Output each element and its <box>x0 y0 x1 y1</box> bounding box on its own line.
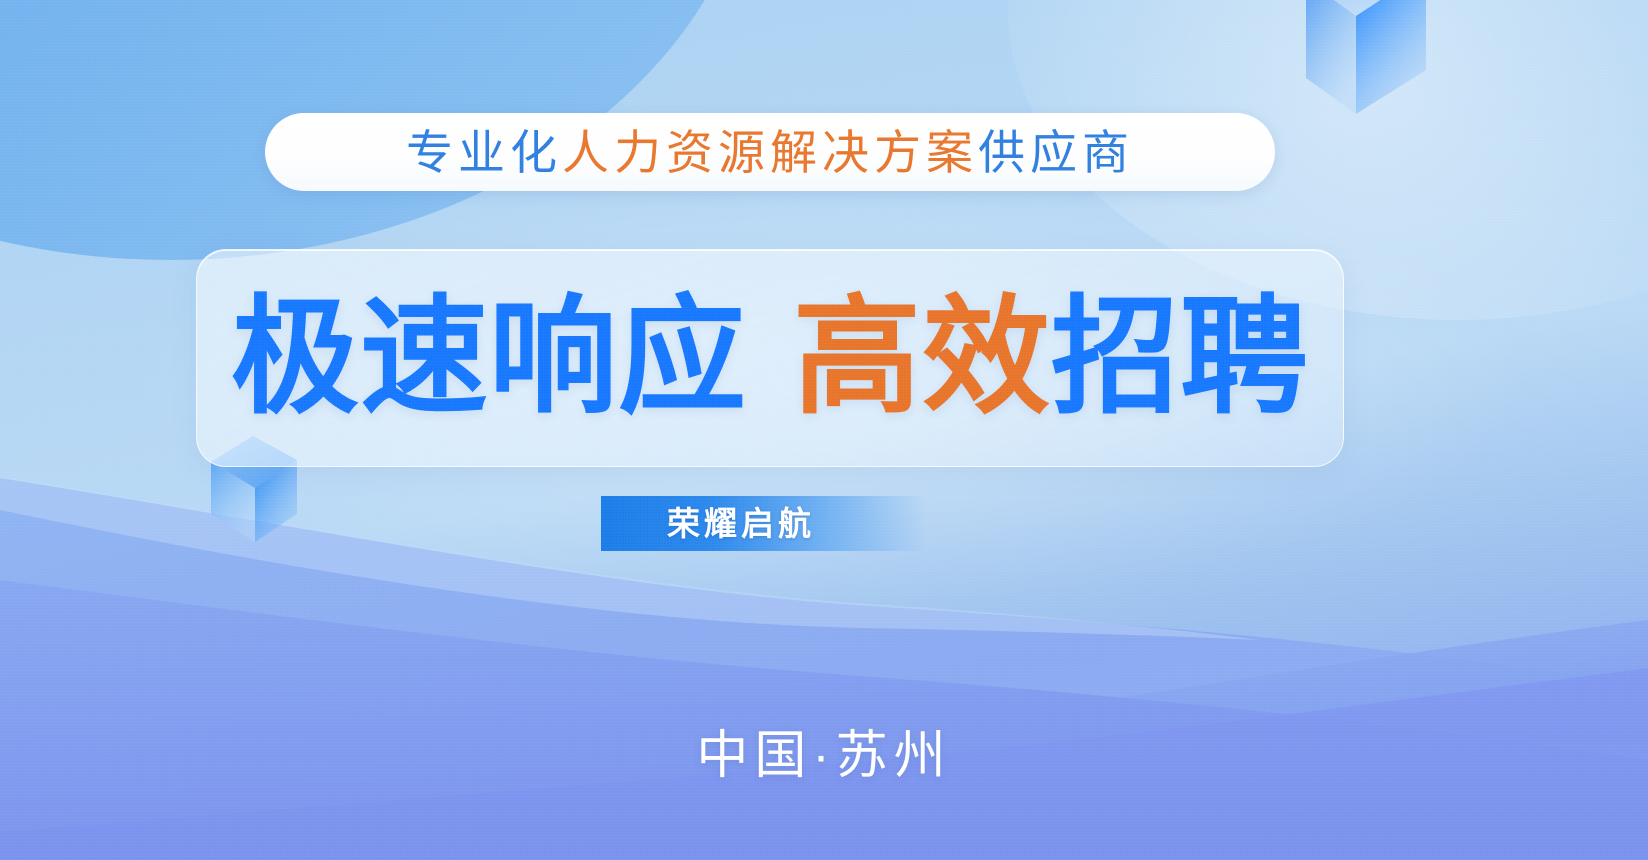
headline-part-blue-2: 招聘 <box>1051 294 1309 422</box>
location: 中国·苏州 <box>0 730 1648 782</box>
promo-banner: 专业化 人力资源解决方案 供应商 极速响应 高效 招聘 荣耀启航 中国·苏州 <box>0 0 1648 860</box>
headline-part-orange: 高效 <box>793 294 1051 422</box>
headline-text: 极速响应 高效 招聘 <box>231 294 1309 422</box>
cube-icon-top-right <box>1298 0 1498 151</box>
location-label: 中国·苏州 <box>696 727 951 785</box>
tagline-segment-blue-2: 供应商 <box>978 129 1134 176</box>
tagline-pill: 专业化 人力资源解决方案 供应商 <box>265 113 1275 191</box>
headline-part-blue-1: 极速响应 <box>231 294 747 422</box>
tagline-segment-blue-1: 专业化 <box>406 129 562 176</box>
subtitle-badge: 荣耀启航 <box>601 496 927 551</box>
subtitle-badge-label: 荣耀启航 <box>667 507 815 540</box>
headline: 极速响应 高效 招聘 <box>196 249 1344 467</box>
tagline-segment-orange: 人力资源解决方案 <box>562 129 978 176</box>
tagline-text: 专业化 人力资源解决方案 供应商 <box>406 129 1134 176</box>
